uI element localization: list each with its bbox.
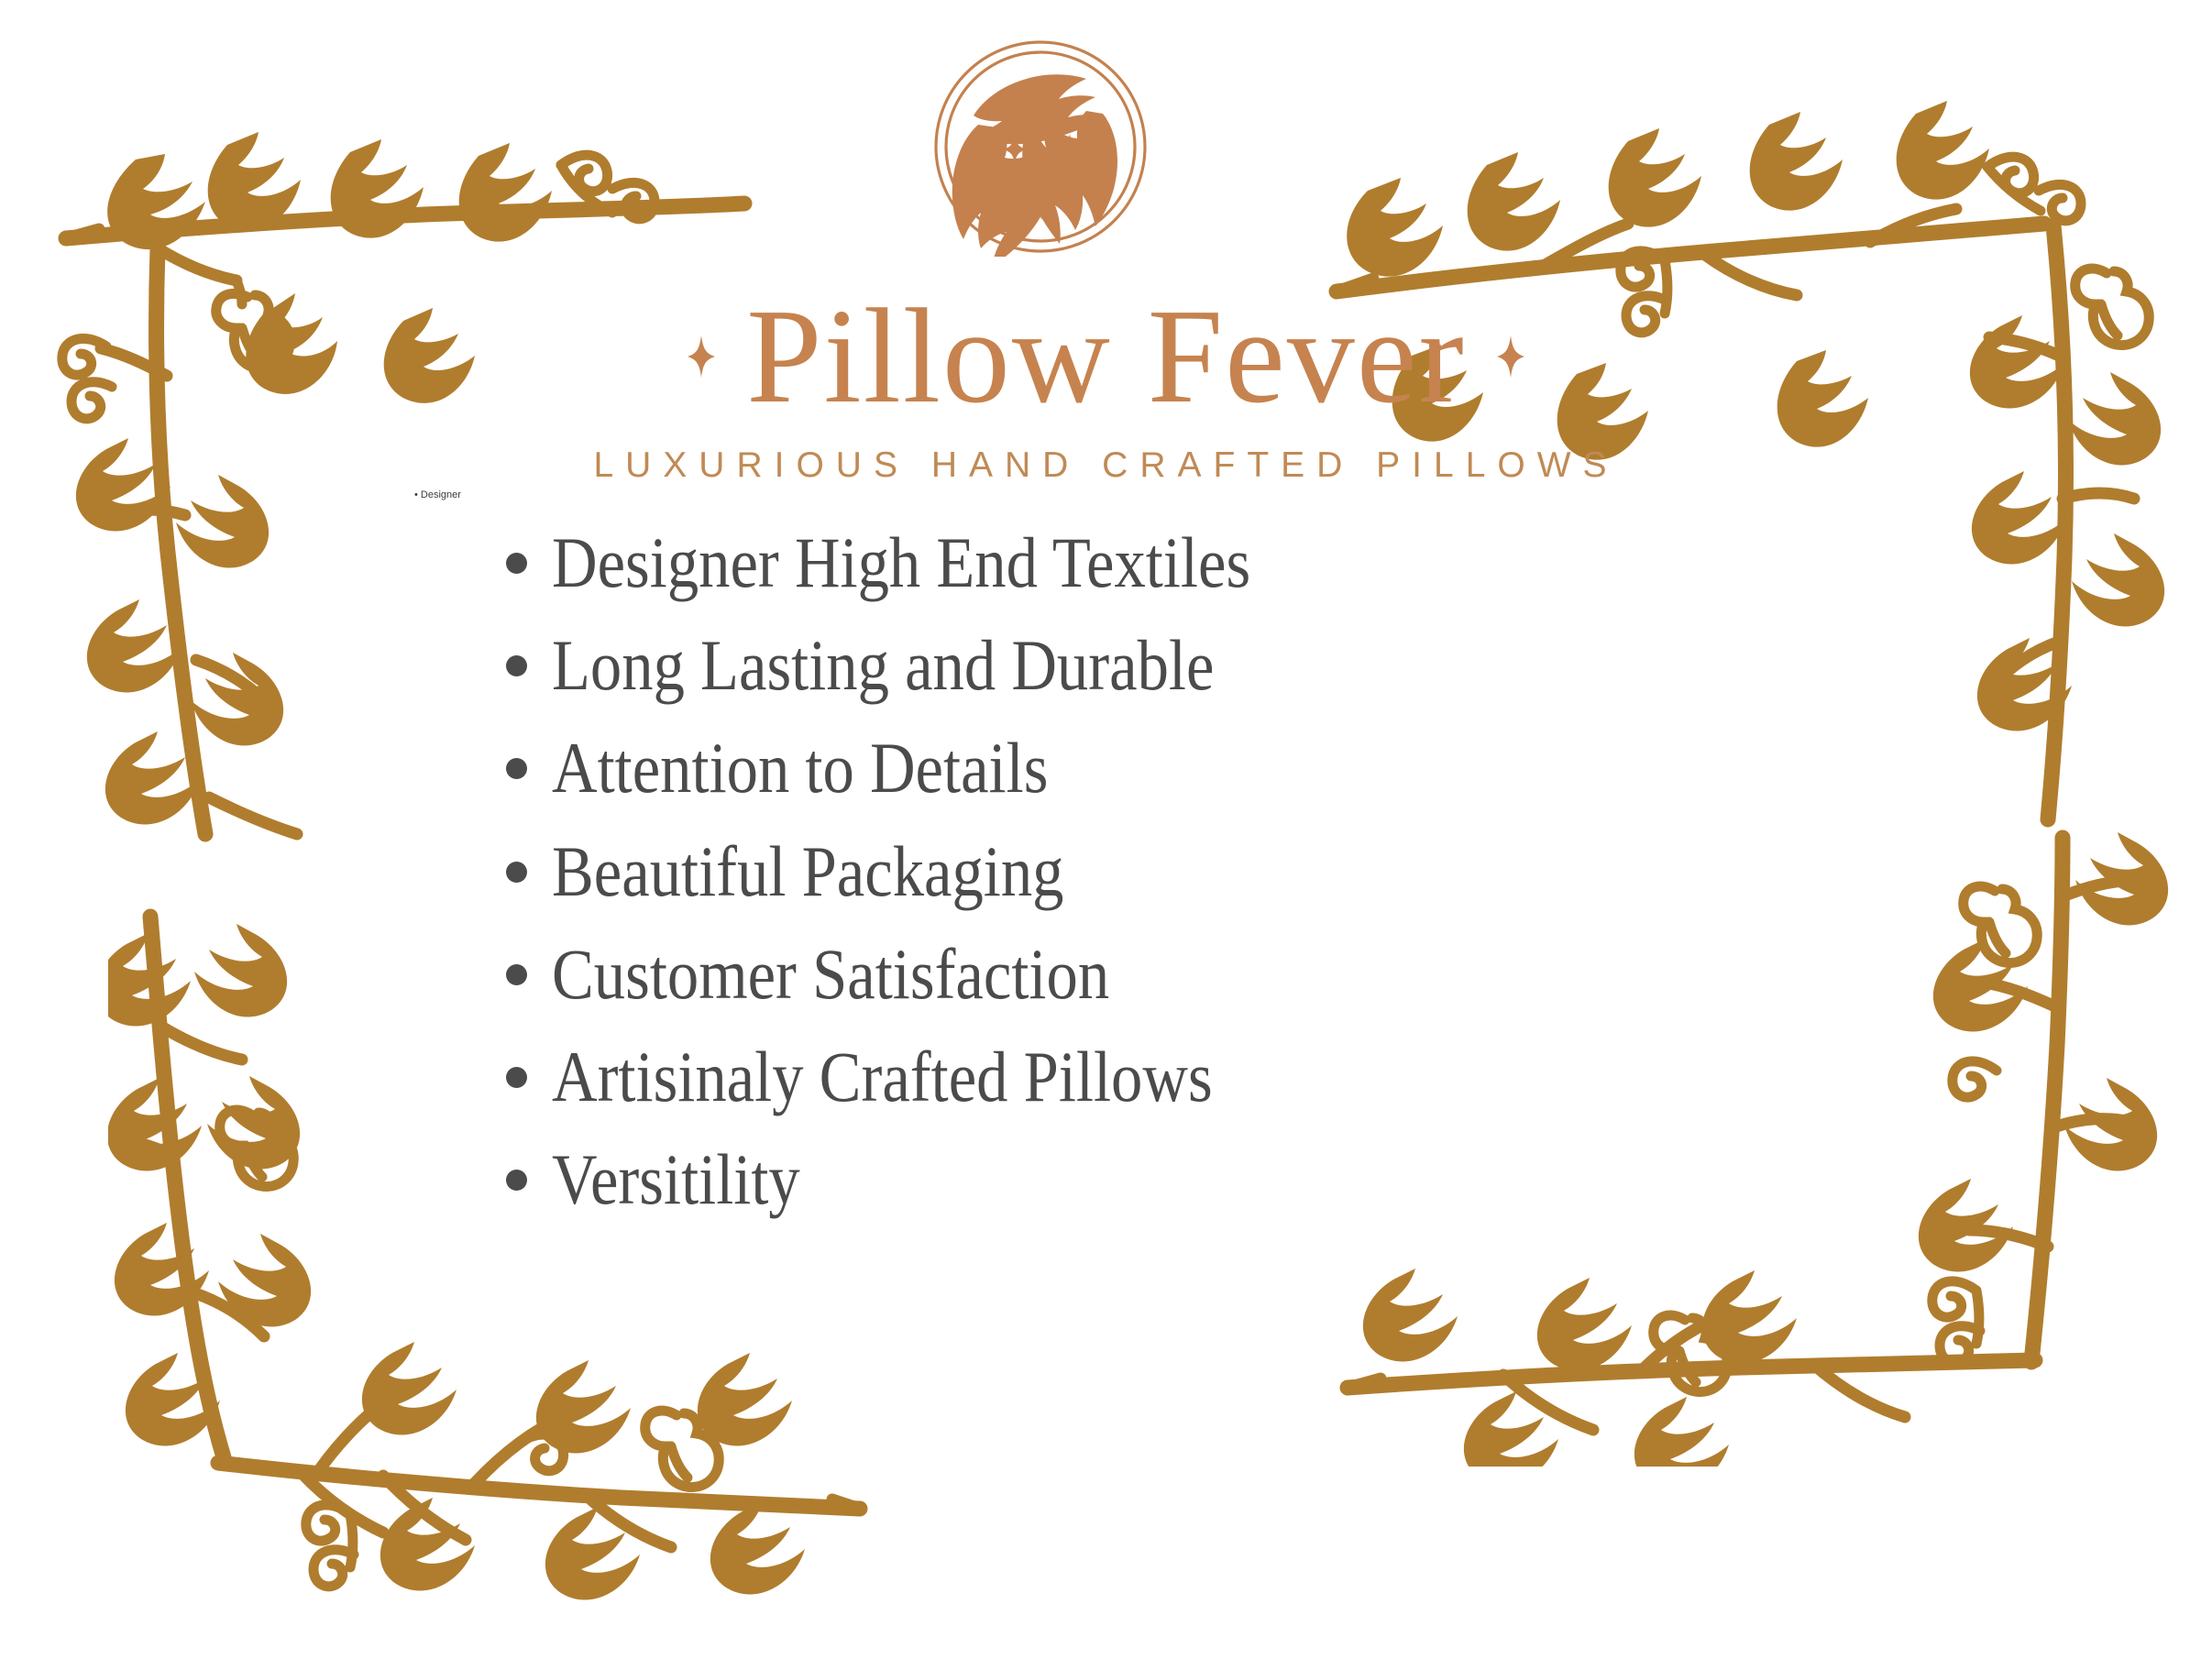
list-item: Beautiful Packaging <box>506 833 1698 910</box>
feature-list: Designer High End Textiles Long Lasting … <box>506 524 1698 1245</box>
bullet-dot-icon <box>506 862 527 883</box>
feature-label: Versitility <box>552 1141 800 1218</box>
feature-label: Beautiful Packaging <box>552 833 1064 910</box>
bullet-dot-icon <box>506 964 527 985</box>
brand-block: Pillow Fever LUXURIOUS HAND CRAFTED PILL… <box>0 291 2212 486</box>
bullet-dot-icon <box>506 1067 527 1088</box>
brand-name-row: Pillow Fever <box>688 291 1524 422</box>
brand-tagline: LUXURIOUS HAND CRAFTED PILLOWS <box>0 445 2212 486</box>
list-item: Long Lasting and Durable <box>506 627 1698 704</box>
list-item: Customer Satisfaction <box>506 936 1698 1013</box>
diamond-sparkle-icon <box>688 335 715 378</box>
list-item: Attention to Details <box>506 730 1698 807</box>
poster-canvas: Pillow Fever LUXURIOUS HAND CRAFTED PILL… <box>0 0 2212 1659</box>
bullet-dot-icon <box>506 758 527 779</box>
feature-label: Attention to Details <box>552 730 1048 807</box>
page-title: Pillow Fever <box>746 291 1466 422</box>
list-item: Artisinaly Crafted Pillows <box>506 1038 1698 1115</box>
feature-label: Designer High End Textiles <box>552 524 1250 601</box>
bullet-dot-icon <box>506 1170 527 1191</box>
list-item: Designer High End Textiles <box>506 524 1698 601</box>
bullet-dot-icon <box>506 655 527 676</box>
feature-label: Long Lasting and Durable <box>552 627 1214 704</box>
diamond-sparkle-icon <box>1497 335 1524 378</box>
feature-label: Customer Satisfaction <box>552 936 1109 1013</box>
feature-label: Artisinaly Crafted Pillows <box>552 1038 1213 1115</box>
list-item: Versitility <box>506 1141 1698 1218</box>
feather-circle-logo <box>930 37 1150 257</box>
bullet-dot-icon <box>506 553 527 574</box>
stray-note-text: • Designer <box>414 489 461 500</box>
